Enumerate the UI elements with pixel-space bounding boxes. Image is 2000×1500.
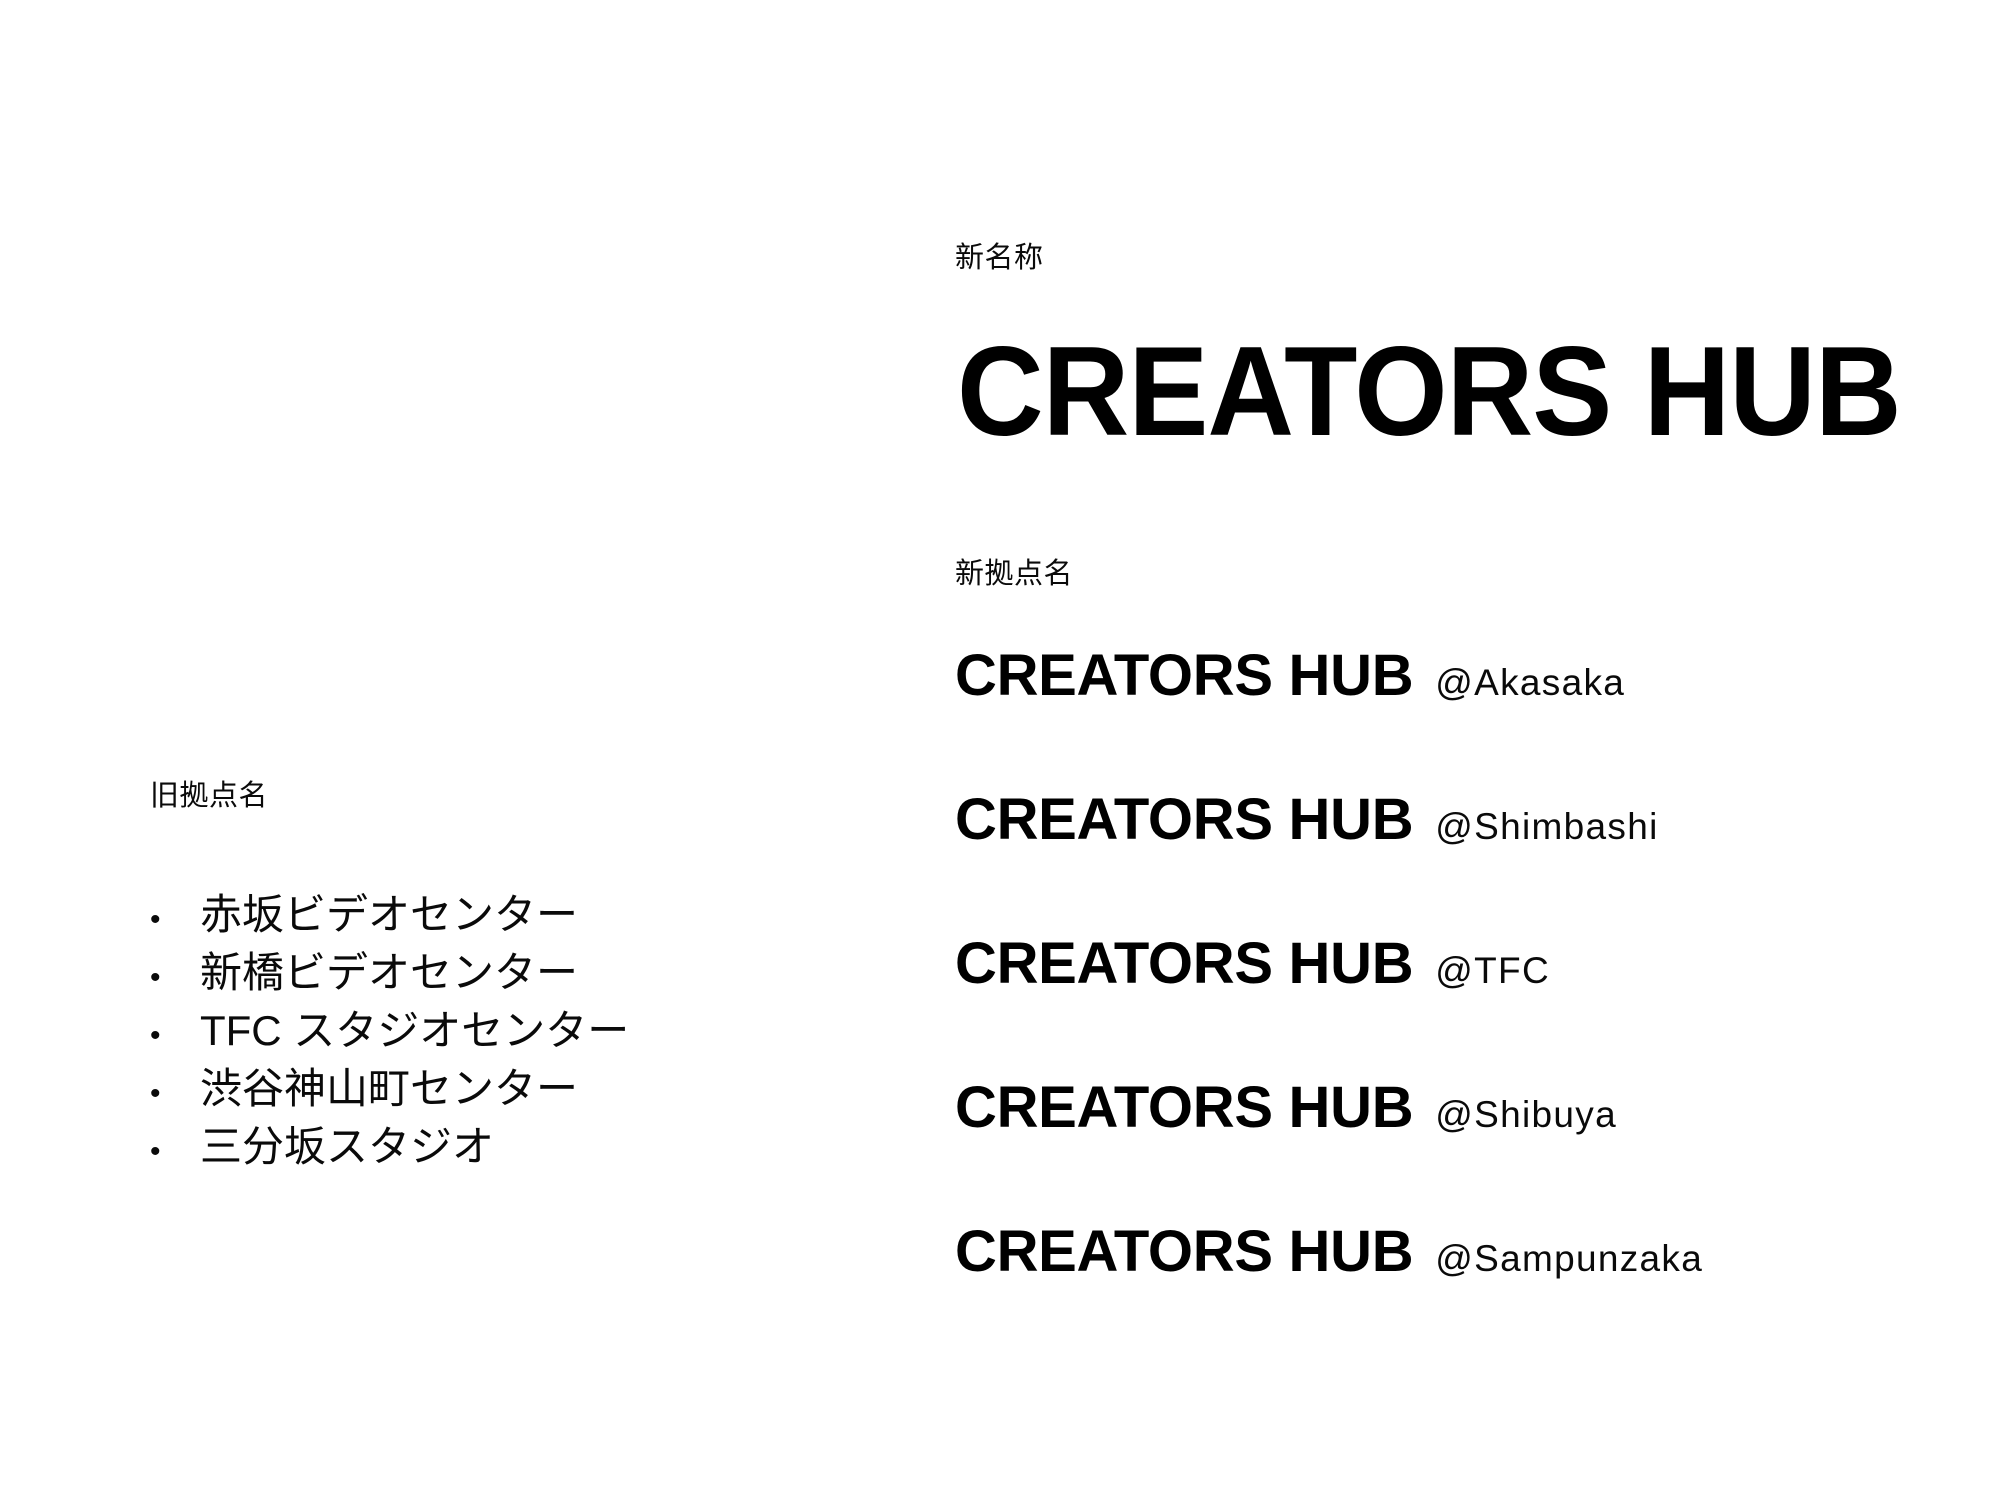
- bullet-icon: •: [150, 1007, 200, 1065]
- old-site-name-text: 渋谷神山町センター: [200, 1060, 578, 1118]
- old-site-name-text: 新橋ビデオセンター: [200, 944, 578, 1002]
- bullet-icon: •: [150, 891, 200, 949]
- slide-canvas: 旧拠点名 • 赤坂ビデオセンター • 新橋ビデオセンター • TFC スタジオセ…: [0, 0, 2000, 1500]
- site-location-text: @Shibuya: [1435, 1096, 1617, 1133]
- page-title: CREATORS HUB: [957, 328, 1955, 455]
- old-site-names-section: 旧拠点名 • 赤坂ビデオセンター • 新橋ビデオセンター • TFC スタジオセ…: [150, 778, 850, 1176]
- list-item: CREATORS HUB @Shimbashi: [955, 791, 1955, 935]
- list-item: • 赤坂ビデオセンター: [150, 886, 850, 944]
- old-site-name-text: TFC スタジオセンター: [200, 1002, 629, 1060]
- new-name-label: 新名称: [955, 240, 1955, 276]
- list-item: • 三分坂スタジオ: [150, 1118, 850, 1176]
- old-site-names-list: • 赤坂ビデオセンター • 新橋ビデオセンター • TFC スタジオセンター •…: [150, 886, 850, 1176]
- site-location-text: @TFC: [1435, 952, 1550, 989]
- old-site-name-text: 赤坂ビデオセンター: [200, 886, 578, 944]
- site-brand-text: CREATORS HUB: [955, 935, 1413, 993]
- site-location-text: @Akasaka: [1435, 664, 1625, 701]
- site-brand-text: CREATORS HUB: [955, 1223, 1413, 1281]
- new-branding-section: 新名称 CREATORS HUB 新拠点名 CREATORS HUB @Akas…: [955, 240, 1955, 1367]
- old-site-name-text: 三分坂スタジオ: [200, 1118, 494, 1176]
- list-item: CREATORS HUB @TFC: [955, 935, 1955, 1079]
- list-item: • 渋谷神山町センター: [150, 1060, 850, 1118]
- old-site-names-label: 旧拠点名: [150, 778, 850, 814]
- site-brand-text: CREATORS HUB: [955, 1079, 1413, 1137]
- list-item: CREATORS HUB @Sampunzaka: [955, 1223, 1955, 1367]
- list-item: CREATORS HUB @Akasaka: [955, 647, 1955, 791]
- bullet-icon: •: [150, 1065, 200, 1123]
- bullet-icon: •: [150, 949, 200, 1007]
- new-site-names-label: 新拠点名: [955, 556, 1955, 592]
- list-item: • TFC スタジオセンター: [150, 1002, 850, 1060]
- list-item: CREATORS HUB @Shibuya: [955, 1079, 1955, 1223]
- list-item: • 新橋ビデオセンター: [150, 944, 850, 1002]
- site-location-text: @Sampunzaka: [1435, 1240, 1703, 1277]
- bullet-icon: •: [150, 1123, 200, 1181]
- site-brand-text: CREATORS HUB: [955, 647, 1413, 705]
- site-location-text: @Shimbashi: [1435, 808, 1658, 845]
- site-brand-text: CREATORS HUB: [955, 791, 1413, 849]
- new-site-names-list: CREATORS HUB @Akasaka CREATORS HUB @Shim…: [955, 647, 1955, 1367]
